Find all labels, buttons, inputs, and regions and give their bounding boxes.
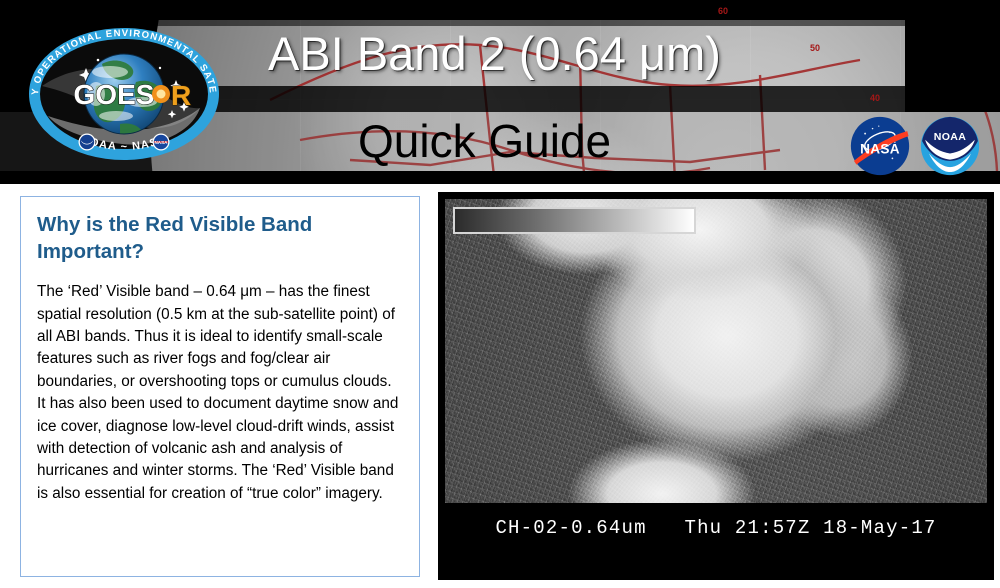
page-title: ABI Band 2 (0.64 μm) xyxy=(268,26,721,81)
goes-r-logo: GOES R GEOSTATIONARY OPERATIONAL ENVIRON… xyxy=(24,24,224,164)
image-caption: CH-02-0.64um Thu 21:57Z 18-May-17 xyxy=(445,517,987,539)
satellite-image-inner: CH-02-0.64um Thu 21:57Z 18-May-17 xyxy=(445,199,987,573)
latitude-label-40: 40 xyxy=(870,93,880,103)
caption-bar: CH-02-0.64um Thu 21:57Z 18-May-17 xyxy=(445,503,987,573)
svg-text:NASA: NASA xyxy=(154,140,168,145)
info-panel: Why is the Red Visible Band Important? T… xyxy=(20,196,420,577)
imagery-noise-overlay xyxy=(445,199,987,503)
latitude-label-60: 60 xyxy=(718,6,728,16)
satellite-imagery xyxy=(445,199,987,503)
page-header: 60 50 40 xyxy=(0,0,1000,184)
grayscale-colorbar xyxy=(453,207,696,234)
nasa-logo-text: NASA xyxy=(860,141,900,156)
goes-r-center-text: GOES xyxy=(74,79,155,110)
noaa-logo-text: NOAA xyxy=(934,131,967,143)
panel-body-text: The ‘Red’ Visible band – 0.64 μm – has t… xyxy=(37,281,403,505)
page-subtitle: Quick Guide xyxy=(358,114,611,168)
header-band-right-fill xyxy=(905,0,1000,112)
satellite-image-panel: CH-02-0.64um Thu 21:57Z 18-May-17 xyxy=(438,192,994,580)
noaa-logo: NOAA xyxy=(919,115,981,177)
nasa-logo: NASA xyxy=(849,115,911,177)
panel-heading: Why is the Red Visible Band Important? xyxy=(37,211,403,265)
quick-guide-page: 60 50 40 xyxy=(0,0,1000,588)
latitude-label-50: 50 xyxy=(810,43,820,53)
page-content: Why is the Red Visible Band Important? T… xyxy=(0,184,1000,588)
goes-r-accent-letter: R xyxy=(171,80,191,111)
